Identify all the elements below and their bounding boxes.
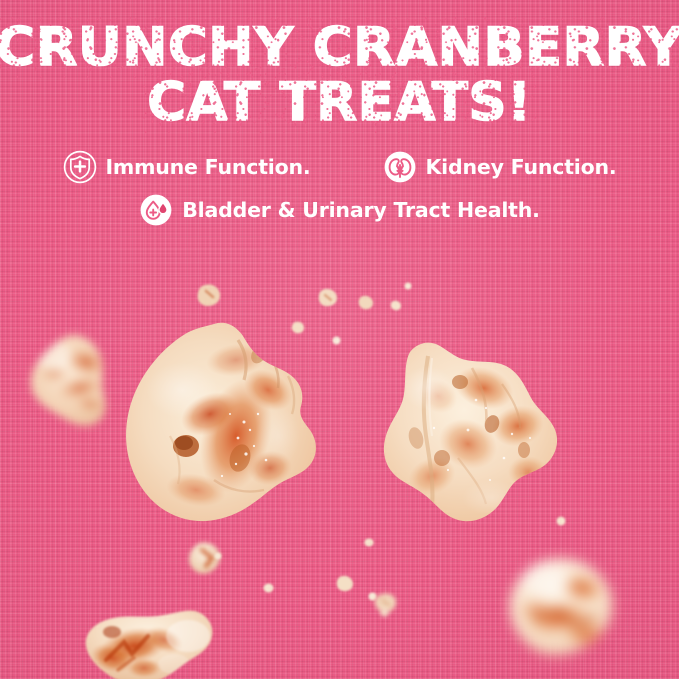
treat-main-left	[118, 318, 336, 554]
product-poster: CRUNCHY CRANBERRY CAT TREATS! Immune Fun…	[0, 0, 679, 679]
crumb-15	[332, 336, 341, 345]
droplet-cross-icon	[139, 193, 173, 227]
treat-main-right	[372, 338, 572, 538]
crumb-12	[214, 552, 222, 560]
crumb-6	[404, 282, 412, 290]
headline-line-1: CRUNCHY CRANBERRY	[0, 22, 679, 74]
benefit-kidney-function: Kidney Function.	[383, 150, 617, 184]
benefit-label: Bladder & Urinary Tract Health.	[182, 198, 540, 222]
crumb-2	[318, 288, 338, 307]
headline-line-2: CAT TREATS!	[0, 77, 679, 129]
crumb-11	[380, 608, 389, 617]
benefit-label: Immune Function.	[106, 155, 311, 179]
benefit-bladder-urinary-health: Bladder & Urinary Tract Health.	[139, 193, 540, 227]
treat-edge-left	[24, 330, 120, 430]
shield-cross-icon	[63, 150, 97, 184]
crumb-14	[364, 538, 374, 547]
benefit-label: Kidney Function.	[426, 155, 617, 179]
treat-bottom-left	[78, 606, 218, 679]
benefit-row-top: Immune Function. Kidney	[0, 150, 679, 184]
crumb-1	[196, 283, 222, 307]
kidney-icon	[383, 150, 417, 184]
crumb-4	[291, 321, 305, 334]
benefit-immune-function: Immune Function.	[63, 150, 311, 184]
crumb-5	[390, 300, 402, 311]
crumb-13	[556, 516, 566, 526]
headline: CRUNCHY CRANBERRY CAT TREATS!	[0, 22, 679, 130]
benefit-list: Immune Function. Kidney	[0, 150, 679, 227]
benefit-row-bottom: Bladder & Urinary Tract Health.	[0, 193, 679, 227]
crumb-7	[336, 575, 354, 592]
crumb-8	[263, 583, 274, 593]
crumb-3	[358, 295, 374, 310]
treat-bottom-right	[496, 552, 628, 670]
